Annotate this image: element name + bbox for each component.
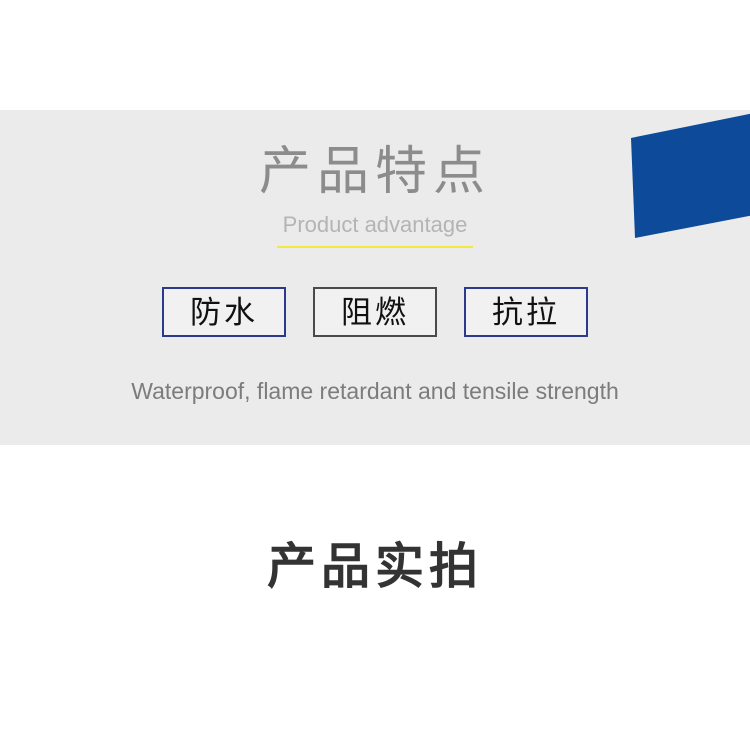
- keyword-box-flame-retardant: 阻燃: [313, 287, 437, 337]
- keyword-label: 抗拉: [492, 297, 560, 328]
- panel-caption: Waterproof, flame retardant and tensile …: [0, 374, 750, 408]
- keyword-label: 阻燃: [341, 297, 409, 328]
- keyword-box-tensile: 抗拉: [464, 287, 588, 337]
- keyword-box-waterproof: 防水: [162, 287, 286, 337]
- keyword-box-row: 防水 阻燃 抗拉: [0, 287, 750, 337]
- product-detail-page: 产品特点 Product advantage 防水 阻燃 抗拉 Waterpro…: [0, 0, 750, 750]
- panel-title: 产品特点: [0, 142, 750, 202]
- panel-subtitle: Product advantage: [277, 210, 474, 248]
- product-photos-heading: 产品实拍: [0, 536, 750, 598]
- keyword-label: 防水: [190, 297, 258, 328]
- panel-subtitle-container: Product advantage: [0, 210, 750, 248]
